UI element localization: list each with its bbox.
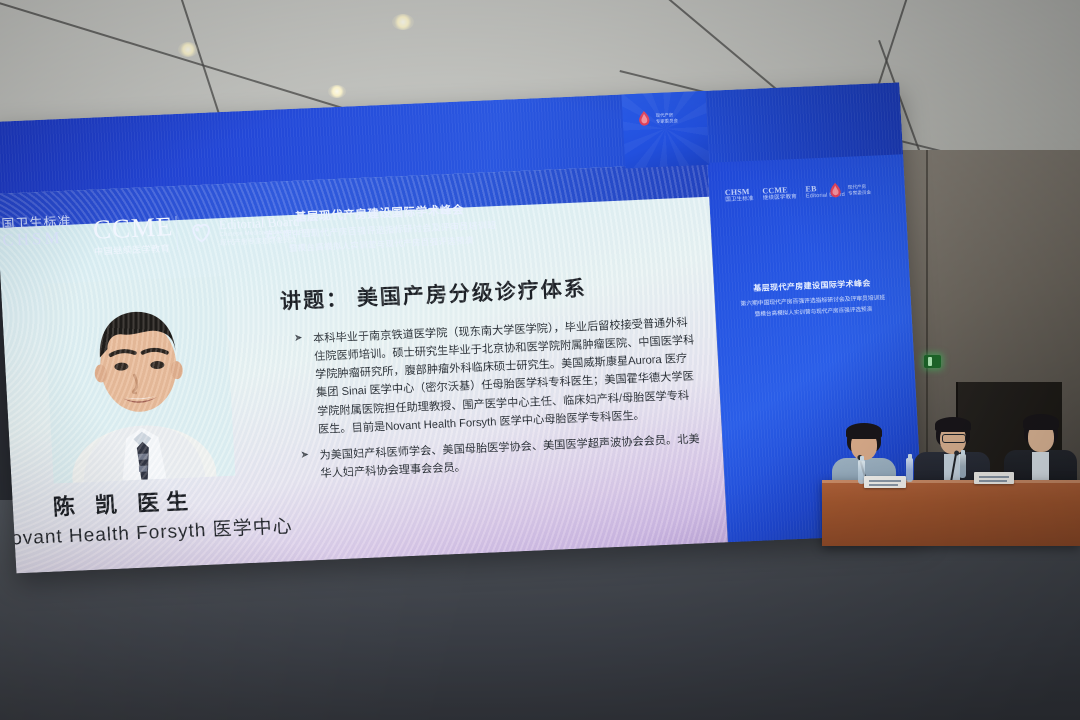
right-title-line3: 暨模台高模拟人实训营与现代产房百强评选预演 [727,304,899,319]
mid-panel-emblem: 现代产房专家委员会 [636,108,678,129]
nameplate [864,476,906,488]
right-panel-logo-row: CHSM国卫生标准 CCME继续医学教育 EBEditorial Board [725,183,846,204]
led-mid-panel: 现代产房专家委员会 [621,89,709,169]
slide-bullet-text: 为美国妇产科医师学会、美国母胎医学协会、美国医学超声波协会会员。北美华人妇产科协… [319,430,704,483]
water-bottle [906,458,913,482]
chsm-logo: 国卫生标准 CHSM [1,215,73,249]
emblem-caption: 现代产房专家委员会 [655,112,678,124]
logo-divider [175,216,178,250]
lotus-emblem-icon [636,109,652,129]
chsm-logo-en: CHSM [2,228,73,249]
right-title-line1: 基层现代产房建设国际学术峰会 [726,277,898,295]
logo-chip-big: CHSM [725,187,754,197]
panel-table [822,480,1080,546]
ceiling-downlight [328,85,346,98]
lotus-emblem-icon [827,181,843,201]
ccme-logo-cn: 中国继续医学教育 [94,241,175,257]
logo-chip-small: 继续医学教育 [763,194,797,201]
ceiling-downlight [392,14,414,30]
logo-chip-small: 国卫生标准 [725,196,754,203]
logo-chip: CHSM国卫生标准 [725,187,754,204]
presentation-slide: 国卫生标准 CHSM CCME 中国继续医学教育 Editorial Board… [0,163,728,574]
led-video-wall: CHSM国卫生标准 CCME继续医学教育 EBEditorial Board 现… [0,82,924,573]
ccme-logo-en: CCME [92,214,174,243]
slide-bullet: ➤ 为美国妇产科医师学会、美国母胎医学协会、美国医学超声波协会会员。北美华人妇产… [300,430,704,484]
heart-swirl-icon [188,218,215,245]
right-panel-title: 基层现代产房建设国际学术峰会 第六期中国现代产房百强评选指标研讨会及评审员培训班… [726,277,900,319]
slide-headline: 讲题： 美国产房分级诊疗体系 [279,272,587,315]
speaker-portrait-illustration [43,276,236,484]
ccme-logo: CCME 中国继续医学教育 [92,214,175,257]
chsm-logo-cn: 国卫生标准 [1,215,72,232]
exit-sign-icon [924,355,941,368]
slide-bullet: ➤ 本科毕业于南京铁道医学院（现东南大学医学院），毕业后留校接受普通外科住院医师… [294,313,702,439]
slide-bullet-text: 本科毕业于南京铁道医学院（现东南大学医学院），毕业后留校接受普通外科住院医师培训… [313,313,702,438]
nameplate [974,472,1014,484]
right-panel-emblem: 现代产房专家委员会 [827,180,871,201]
logo-chip-big: CCME [762,185,797,196]
logo-chip: CCME继续医学教育 [762,185,797,202]
speaker-portrait [43,276,236,484]
water-bottle [959,454,966,478]
ceiling-downlight [178,42,198,57]
emblem-caption: 现代产房专家委员会 [848,184,872,196]
eyeglasses-icon [942,434,966,443]
bullet-arrow-icon: ➤ [300,447,312,484]
logo-chip-big: EB [805,183,845,194]
panel-table-group [822,414,1080,544]
right-title-line2: 第六期中国现代产房百强评选指标研讨会及评审员培训班 [727,292,899,308]
slide-body: ➤ 本科毕业于南京铁道医学院（现东南大学医学院），毕业后留校接受普通外科住院医师… [294,313,704,491]
bullet-arrow-icon: ➤ [294,331,310,440]
speaker-affiliation: Novant Health Forsyth 医学中心 [0,511,293,551]
logo-chip: EBEditorial Board [805,183,845,200]
screenshot-root: CHSM国卫生标准 CCME继续医学教育 EBEditorial Board 现… [0,0,1080,720]
logo-chip-small: Editorial Board [806,192,845,200]
